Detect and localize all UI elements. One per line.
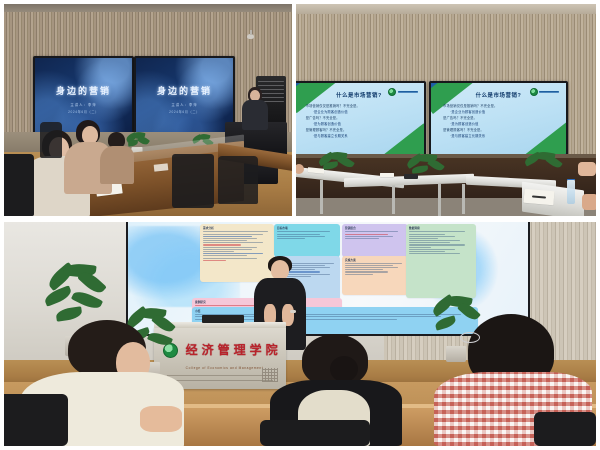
card-green-right: 数据洞察 <box>406 224 476 297</box>
card-title: 营销组合 <box>345 226 405 230</box>
panel-top-right-lecture-hall: 什么是市场营销? 市场营销仅仅是推销吗？不完全是。 ·是企业为顾客创造价值 是广… <box>296 4 596 216</box>
slide-heading: 什么是市场营销? <box>431 91 566 99</box>
slide-title-text: 身边的营销 <box>136 84 233 97</box>
card-cyan-top: 目标市场 <box>274 224 340 257</box>
slide-date-text: 2024年6月（二） <box>136 109 233 114</box>
photo-collage: 身边的营销 主讲人：李萍 2024年6月（二） 身边的营销 主讲人：李萍 202… <box>0 0 600 450</box>
potted-plant <box>522 152 564 182</box>
slide-heading: 什么是市场营销? <box>296 91 424 99</box>
document <box>380 173 394 177</box>
document <box>154 163 169 171</box>
slide-presenter-text: 主讲人：李萍 <box>136 102 233 107</box>
card-purple-right: 营销组合 <box>342 224 408 257</box>
display-right: 什么是市场营销? 市场营销仅仅是推销吗？不完全是。 ·是企业为顾客创造价值 是广… <box>429 81 568 156</box>
slide-content-right: 什么是市场营销? 市场营销仅仅是推销吗？不完全是。 ·是企业为顾客创造价值 是广… <box>431 83 566 154</box>
display-left: 什么是市场营销? 市场营销仅仅是推销吗？不完全是。 ·是企业为顾客创造价值 是广… <box>296 81 426 156</box>
office-chair <box>4 154 34 216</box>
office-chair <box>172 154 214 208</box>
slide-date-text: 2024年6月（二） <box>35 109 132 114</box>
office-chair <box>218 156 258 204</box>
slide-title-right: 身边的营销 主讲人：李萍 2024年6月（二） <box>136 58 233 133</box>
display-right: 身边的营销 主讲人：李萍 2024年6月（二） <box>134 56 235 135</box>
attendee-third <box>100 132 136 184</box>
presenter <box>240 87 270 129</box>
office-chair <box>260 420 370 446</box>
bullet-3-sub: ·是与顾客建立长期关系 <box>443 134 552 140</box>
slide-bullets: 市场营销仅仅是推销吗？不完全是。 ·是企业为顾客创造价值 是广告吗？不完全是。 … <box>306 104 411 140</box>
card-title: 数据洞察 <box>409 226 473 230</box>
panel-bottom-classroom: 需求分析 目标市场 AI 助手 <box>4 222 596 446</box>
office-chair <box>40 122 62 158</box>
card-title: 目标市场 <box>277 226 337 230</box>
office-chair <box>534 412 596 446</box>
card-title: 需求分析 <box>203 226 271 230</box>
card-title: 实施方案 <box>345 258 405 262</box>
slide-content-left: 什么是市场营销? 市场营销仅仅是推销吗？不完全是。 ·是企业为顾客创造价值 是广… <box>296 83 424 154</box>
slide-title-text: 身边的营销 <box>35 84 132 97</box>
slide-bullets: 市场营销仅仅是推销吗？不完全是。 ·是企业为顾客创造价值 是广告吗？不完全是。 … <box>443 104 552 140</box>
office-chair <box>4 394 68 446</box>
lectern-en-text: College of Economics and Management <box>186 366 264 370</box>
bullet-3-sub: ·是与顾客建立长期关系 <box>306 134 411 140</box>
water-bottle <box>567 180 575 204</box>
panel-top-left-seminar-room: 身边的营销 主讲人：李萍 2024年6月（二） 身边的营销 主讲人：李萍 202… <box>4 4 292 216</box>
slide-presenter-text: 主讲人：李萍 <box>35 102 132 107</box>
card-orange-right: 实施方案 <box>342 256 408 296</box>
ceiling-camera-icon <box>247 34 254 39</box>
